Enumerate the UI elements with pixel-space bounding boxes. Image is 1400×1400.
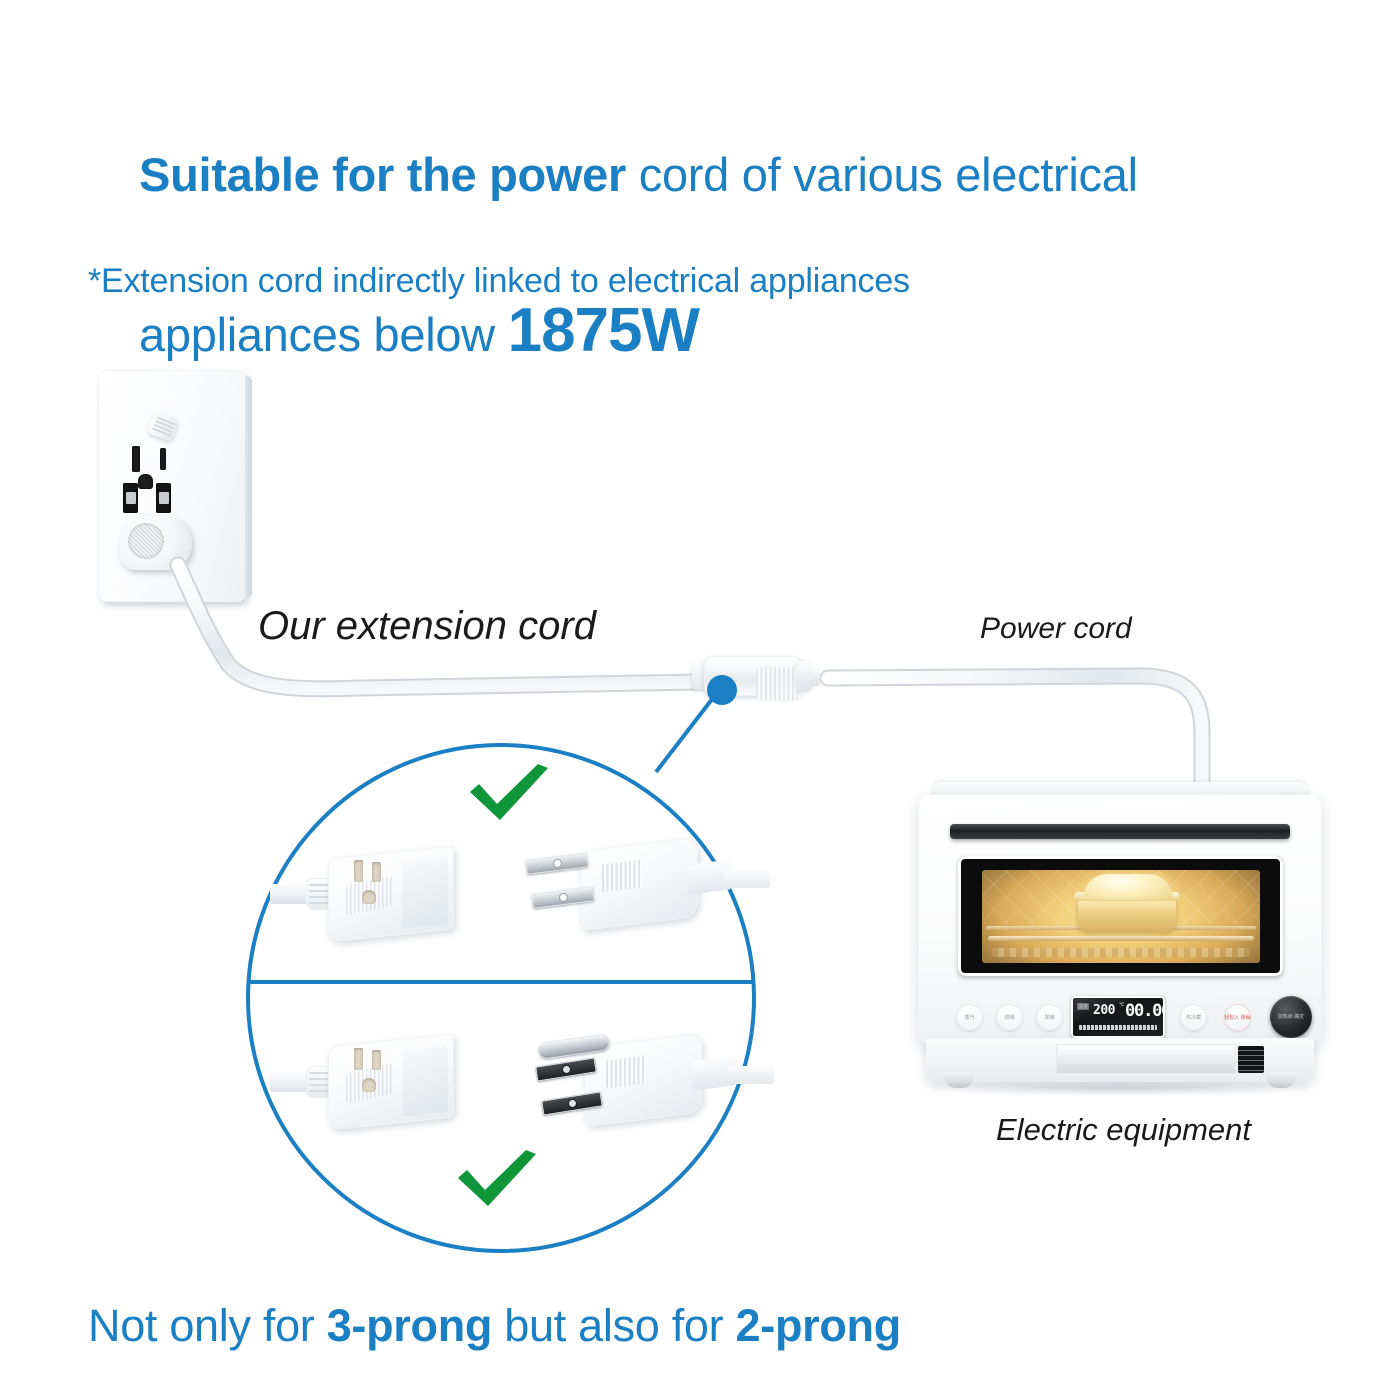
- display-temperature: 200: [1093, 1003, 1115, 1018]
- headline-rest-line1: cord of various electrical: [626, 148, 1138, 201]
- inserted-flat-plug: [120, 515, 192, 570]
- infographic-canvas: Suitable for the power cord of various e…: [0, 0, 1400, 1400]
- oven-rack-lower: [988, 936, 1254, 941]
- oven-door-handle[interactable]: [950, 824, 1290, 839]
- wall-outlet: [98, 370, 256, 610]
- rear-vent-grille: [1238, 1046, 1264, 1073]
- oven-door-window: [958, 856, 1283, 976]
- headline-wattage: 1875W: [508, 296, 699, 365]
- usb-port-left: [123, 483, 138, 513]
- oven-drop-shadow: [924, 1082, 1316, 1096]
- plug-3prong-cord: [728, 1066, 774, 1084]
- start-confirm-knob[interactable]: 加热启 确定: [1270, 996, 1312, 1038]
- oven-base: [926, 1038, 1314, 1082]
- receptacle-face-bottom: [402, 1046, 448, 1117]
- headline-line2-prefix: appliances below: [139, 308, 508, 361]
- display-degree-symbol: ℃: [1119, 1002, 1125, 1008]
- outlet-slot-right: [160, 448, 166, 470]
- compatibility-callout-inset: [248, 740, 754, 1256]
- receptacle-slot-b-bottom: [372, 1050, 381, 1070]
- display-mode-tag: 温度: [1077, 1003, 1089, 1010]
- label-electric-equipment: Electric equipment: [996, 1112, 1251, 1148]
- steam-button[interactable]: 蒸汽: [956, 1004, 983, 1031]
- outlet-faceplate: [98, 370, 246, 602]
- descale-button[interactable]: 轻松入 除垢: [1224, 1004, 1251, 1031]
- usb-port-right: [156, 483, 171, 513]
- plug-2prong-cord: [724, 870, 770, 888]
- coupler-nub: [810, 666, 820, 686]
- receptacle-ground-hole-bottom: [362, 1078, 376, 1092]
- headline-bold-lead: Suitable for the power: [139, 148, 626, 201]
- callout-row-2prong: [248, 740, 754, 998]
- outlet-slot-left: [132, 446, 140, 472]
- plug-3prong-ribbing: [606, 1056, 646, 1089]
- check-icon-3prong: [454, 1148, 540, 1210]
- receptacle-shell-top: [328, 845, 454, 942]
- callout-row-3prong: [248, 998, 754, 1256]
- receptacle-face-top: [402, 858, 448, 929]
- oven-lower-element: [992, 948, 1250, 957]
- coupler-body: [704, 656, 802, 696]
- bake-button[interactable]: 烘烤: [996, 1004, 1023, 1031]
- receptacle-slot-b-top: [372, 862, 381, 882]
- electric-toaster-oven: 蒸汽 烘烤 发酵 自动 菜单 温度 200 ℃ 00.00 热冷藏 轻松入 除垢…: [918, 782, 1322, 1102]
- receptacle-slot-a-bottom: [354, 1048, 363, 1070]
- subnote-text: *Extension cord indirectly linked to ele…: [88, 262, 1188, 301]
- crumb-tray[interactable]: [1056, 1044, 1236, 1074]
- baked-food-dome: [1084, 874, 1172, 900]
- footer-text: Not only for 3-prong but also for 2-pron…: [88, 1300, 1288, 1352]
- label-power-cord: Power cord: [980, 612, 1132, 646]
- oven-glass-interior: [982, 870, 1260, 963]
- oven-display: 温度 200 ℃ 00.00: [1071, 996, 1165, 1038]
- preheat-button[interactable]: 热冷藏: [1180, 1004, 1207, 1031]
- plug-2prong-ribbing: [602, 860, 642, 893]
- display-timer: 00.00: [1125, 1001, 1165, 1021]
- oven-body: 蒸汽 烘烤 发酵 自动 菜单 温度 200 ℃ 00.00 热冷藏 轻松入 除垢…: [918, 794, 1322, 1044]
- plug-textured-disc: [128, 523, 164, 559]
- footer-bold-2prong: 2-prong: [736, 1300, 901, 1351]
- label-our-extension-cord: Our extension cord: [258, 604, 596, 649]
- cord-coupler-connector: [690, 648, 840, 704]
- baking-pan: [1078, 896, 1176, 932]
- footer-middle: but also for: [492, 1300, 735, 1351]
- display-progress-bar: [1079, 1025, 1157, 1030]
- check-icon-2prong: [466, 762, 552, 824]
- page-headline: Suitable for the power cord of various e…: [88, 58, 1218, 452]
- footer-bold-3prong: 3-prong: [327, 1300, 492, 1351]
- outlet-ground-pin: [138, 474, 153, 489]
- footer-prefix: Not only for: [88, 1300, 327, 1351]
- receptacle-shell-bottom: [328, 1033, 454, 1130]
- receptacle-slot-a-top: [354, 860, 363, 882]
- ferment-button[interactable]: 发酵: [1036, 1004, 1063, 1031]
- receptacle-ground-hole-top: [362, 890, 376, 904]
